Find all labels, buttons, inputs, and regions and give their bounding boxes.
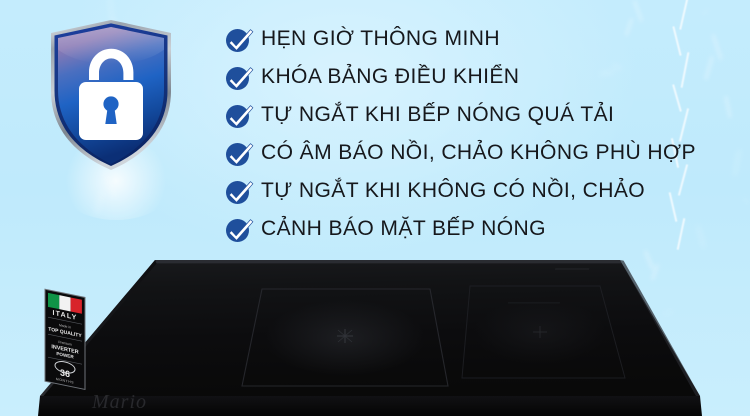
feature-label: TỰ NGẮT KHI BẾP NÓNG QUÁ TẢI xyxy=(261,104,614,126)
check-circle-icon xyxy=(226,216,252,242)
feature-item: TỰ NGẮT KHI KHÔNG CÓ NỒI, CHẢO xyxy=(226,172,746,210)
security-shield-badge xyxy=(48,18,174,170)
brand-wordmark: Mario xyxy=(91,391,147,413)
feature-label: HẸN GIỜ THÔNG MINH xyxy=(261,28,500,50)
feature-list: HẸN GIỜ THÔNG MINH KHÓA BẢNG ĐIỀU KHIỂN … xyxy=(226,20,746,248)
check-circle-icon xyxy=(226,64,252,90)
check-circle-icon xyxy=(226,26,252,52)
surface-reflection-2 xyxy=(508,302,560,304)
feature-label: KHÓA BẢNG ĐIỀU KHIỂN xyxy=(261,66,519,88)
feature-item: CÓ ÂM BÁO NỒI, CHẢO KHÔNG PHÙ HỢP xyxy=(226,134,746,172)
feature-item: CẢNH BÁO MẶT BẾP NÓNG xyxy=(226,210,746,248)
cooktop-top-edge-highlight xyxy=(155,260,621,263)
check-circle-icon xyxy=(226,140,252,166)
feature-label: CÓ ÂM BÁO NỒI, CHẢO KHÔNG PHÙ HỢP xyxy=(261,142,696,164)
feature-item: HẸN GIỜ THÔNG MINH xyxy=(226,20,746,58)
cooking-zone-left-center-mark xyxy=(337,329,353,343)
italy-flag-white xyxy=(59,295,70,311)
italy-flag-red xyxy=(71,297,82,313)
promo-banner: HẸN GIỜ THÔNG MINH KHÓA BẢNG ĐIỀU KHIỂN … xyxy=(0,0,750,416)
italy-quality-sticker: ITALY Made in TOP QUALITY Premium INVERT… xyxy=(45,289,85,389)
check-circle-icon xyxy=(226,178,252,204)
induction-cooktop: ITALY Made in TOP QUALITY Premium INVERT… xyxy=(0,246,750,416)
feature-item: KHÓA BẢNG ĐIỀU KHIỂN xyxy=(226,58,746,96)
feature-item: TỰ NGẮT KHI BẾP NÓNG QUÁ TẢI xyxy=(226,96,746,134)
surface-reflection-1 xyxy=(555,268,589,270)
feature-label: TỰ NGẮT KHI KHÔNG CÓ NỒI, CHẢO xyxy=(261,180,645,202)
italy-flag-green xyxy=(48,293,59,309)
check-circle-icon xyxy=(226,102,252,128)
feature-label: CẢNH BÁO MẶT BẾP NÓNG xyxy=(261,218,546,240)
